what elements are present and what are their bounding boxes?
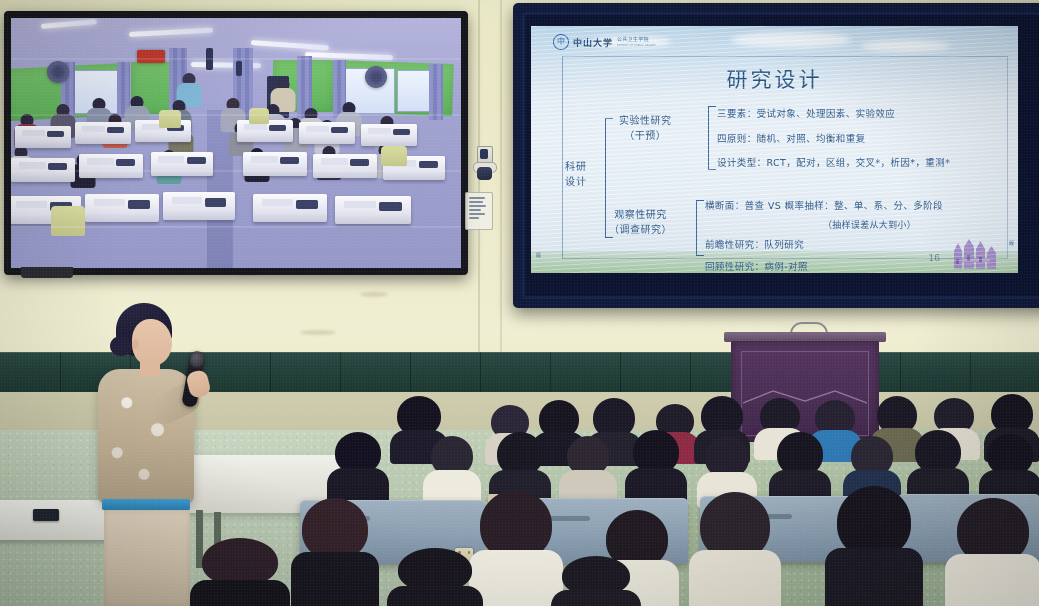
university-logo: 中 中山大学 公共卫生学院 SCHOOL OF PUBLIC HEALTH [553, 34, 656, 50]
display-mount [21, 267, 73, 278]
lectern-front-panel [731, 341, 879, 442]
presenter-belt [102, 499, 190, 510]
wall-mark [300, 330, 336, 335]
display-panel [11, 18, 461, 268]
castle-illustration-icon [950, 237, 1002, 269]
lecture-hall-photo: 中 中山大学 公共卫生学院 SCHOOL OF PUBLIC HEALTH 研究… [0, 0, 1039, 606]
lectern[interactable] [724, 322, 886, 442]
logo-university-name: 中山大学 [573, 36, 613, 49]
outline-annotation: （抽样误差从大到小） [823, 218, 943, 231]
wall-mark [360, 292, 388, 297]
smartphone-on-table [33, 509, 59, 521]
slide-canvas: 中 中山大学 公共卫生学院 SCHOOL OF PUBLIC HEALTH 研究… [531, 26, 1018, 273]
wall-notice-sign [465, 192, 493, 230]
presenter-skirt [104, 508, 190, 606]
wall-camera-icon [471, 146, 497, 192]
corner-mark: 版 [536, 252, 541, 259]
presenter-hair-bun [110, 336, 132, 356]
slide-page-number: 16 [929, 254, 940, 264]
remote-classroom-feed [11, 18, 461, 268]
outline-item: 四原则：随机、对照、均衡和重复 [717, 135, 950, 145]
branch-label-experimental: 实验性研究（干预） [619, 114, 672, 144]
wall-seam [500, 0, 502, 352]
logo-school-name: 公共卫生学院 SCHOOL OF PUBLIC HEALTH [617, 37, 656, 46]
presentation-display[interactable]: 中 中山大学 公共卫生学院 SCHOOL OF PUBLIC HEALTH 研究… [513, 3, 1039, 308]
branch-a-bracket [708, 106, 716, 170]
branch-label-observational: 观察性研究（调查研究） [609, 208, 672, 238]
corner-mark: 版 [1009, 240, 1014, 247]
outline-root-label: 科研设计 [565, 160, 587, 190]
outline-item: 设计类型：RCT，配对，区组，交叉*，析因*，重测* [717, 159, 950, 169]
outline-item: 三要素：受试对象、处理因素、实验效应 [717, 110, 950, 120]
slide-title: 研究设计 [531, 64, 1018, 94]
lectern-chevron-detail [743, 389, 867, 405]
outline-item: 横断面：普查 VS 概率抽样：整、单、系、分、多阶段 [705, 202, 943, 212]
presenter [88, 303, 216, 606]
slide-outline-tree: 科研设计 实验性研究（干预） 三要素：受试对象、处理因素、实验效应 四原则：随机… [565, 102, 1015, 262]
outline-item: 前瞻性研究：队列研究 [705, 241, 943, 251]
branch-a-items: 三要素：受试对象、处理因素、实验效应 四原则：随机、对照、均衡和重复 设计类型：… [717, 110, 950, 184]
branch-b-items: 横断面：普查 VS 概率抽样：整、单、系、分、多阶段 （抽样误差从大到小） 前瞻… [705, 202, 943, 273]
live-classroom-display[interactable] [4, 11, 468, 275]
sysu-seal-icon: 中 [553, 34, 569, 50]
branch-b-bracket [696, 200, 704, 256]
outline-item: 回顾性研究：病例-对照 [705, 263, 943, 273]
